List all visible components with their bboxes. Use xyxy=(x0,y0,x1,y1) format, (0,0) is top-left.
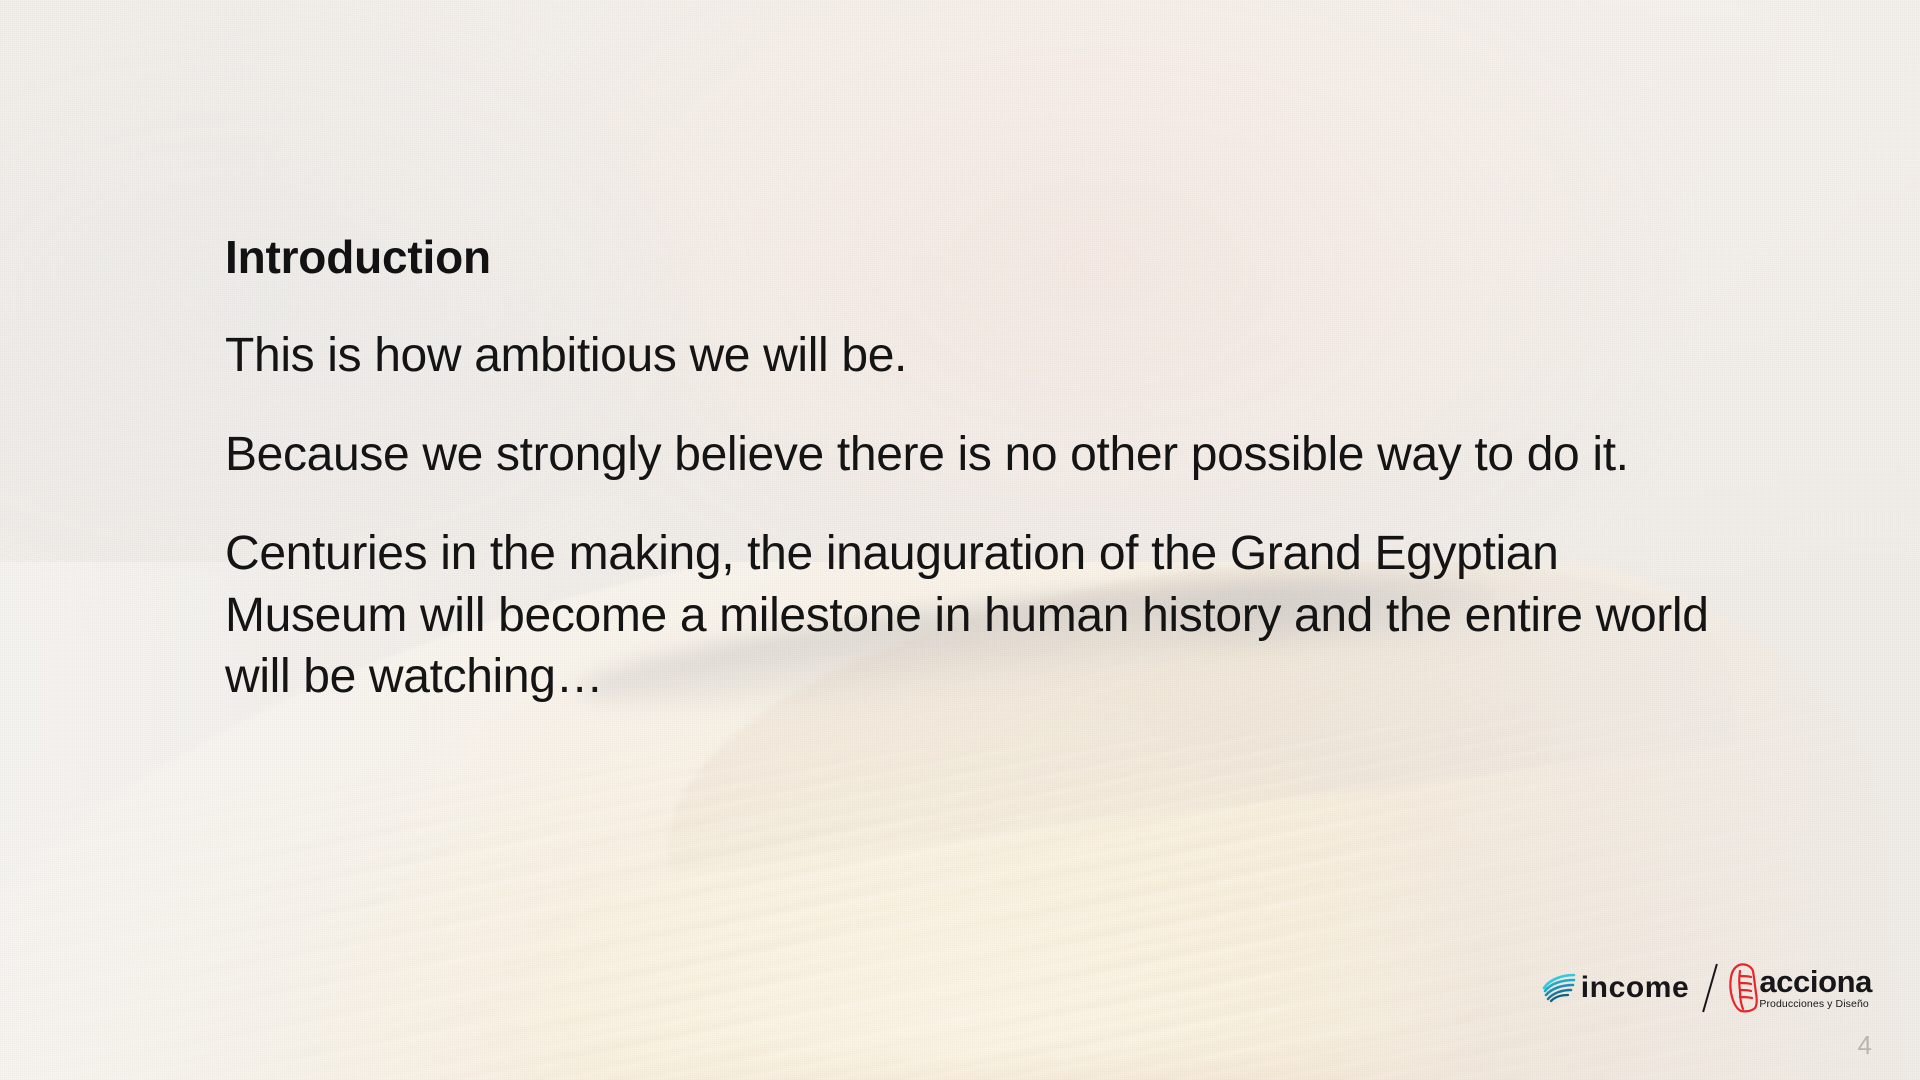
acciona-logo: acciona Producciones y Diseño xyxy=(1727,962,1872,1014)
acciona-wordmark: acciona xyxy=(1759,967,1872,997)
income-logo: income xyxy=(1541,971,1690,1005)
income-wordmark: income xyxy=(1581,973,1690,1003)
presentation-slide: Introduction This is how ambitious we wi… xyxy=(0,0,1920,1080)
logo-divider-slash xyxy=(1702,964,1718,1013)
acciona-tagline: Producciones y Diseño xyxy=(1759,999,1869,1010)
slide-paragraph-2: Because we strongly believe there is no … xyxy=(225,424,1715,485)
footer-logo-lockup: income acciona Producciones xyxy=(1541,962,1872,1014)
income-swoosh-icon xyxy=(1541,971,1577,1005)
acciona-hand-icon xyxy=(1727,962,1761,1014)
page-number: 4 xyxy=(1858,1032,1872,1058)
slide-paragraph-1: This is how ambitious we will be. xyxy=(225,325,1725,386)
slide-heading: Introduction xyxy=(225,232,1725,283)
acciona-text-block: acciona Producciones y Diseño xyxy=(1759,967,1872,1010)
slide-content: Introduction This is how ambitious we wi… xyxy=(225,232,1725,708)
slide-paragraph-3: Centuries in the making, the inauguratio… xyxy=(225,523,1715,707)
